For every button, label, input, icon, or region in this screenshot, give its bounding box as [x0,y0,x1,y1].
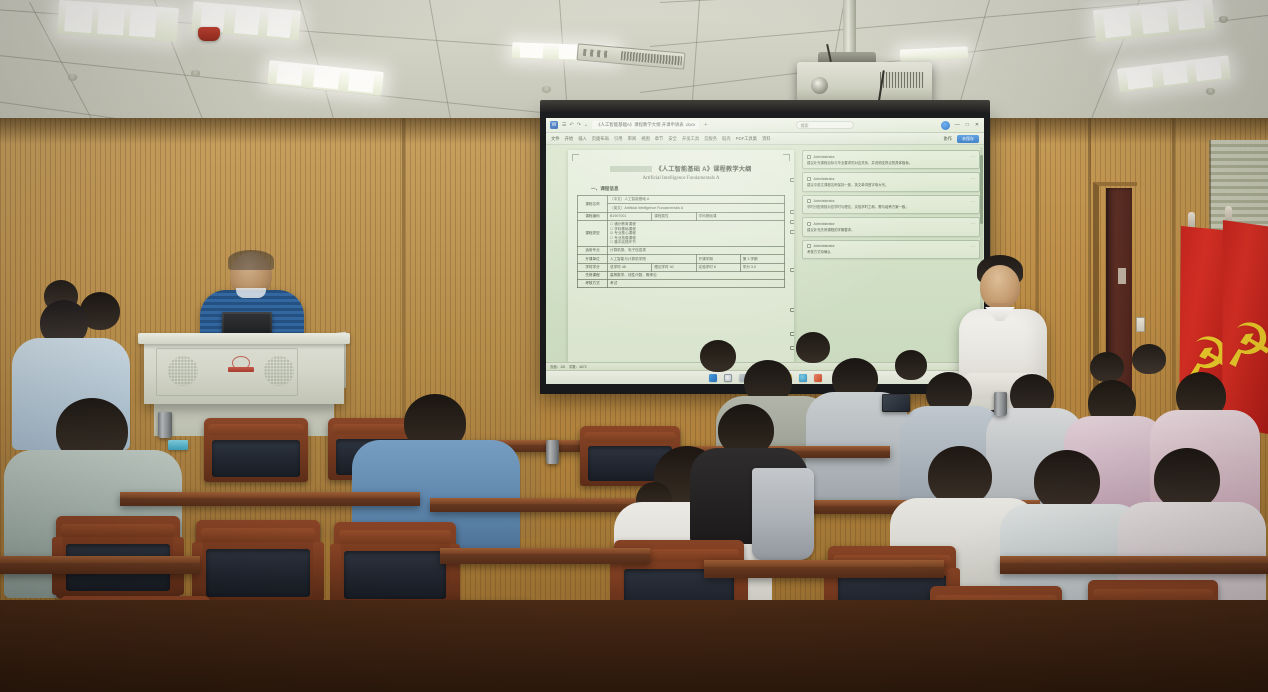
ribbon-tab-security[interactable]: 安全 [668,136,677,142]
audience-desk [440,548,650,564]
comment-author: Administrator [814,199,835,203]
cell-major: 计算机类、电子信息类 [608,247,785,255]
comment-menu-icon[interactable]: ⋯ [971,221,975,226]
comment-icon [807,155,811,159]
projection-screen: W ☰ ↶ ↷ ⌄ 《人工智能基础A》课程教学大纲 开课申请表 .docx + … [540,112,990,394]
comment-author: Administrator [814,222,835,226]
thermos-flask[interactable] [158,412,172,438]
avatar[interactable] [941,121,950,130]
row-label: 开课单位 [578,255,608,263]
comment-card[interactable]: Administrator ⋯ 建议补充课程目标与毕业要求的对应关系，并说明支撑… [802,150,980,169]
comment-menu-icon[interactable]: ⋯ [971,176,975,181]
hair [228,250,274,270]
wps-logo-icon: W [550,121,558,129]
cell-total-hours: 总学时 48 [608,263,652,271]
comment-menu-icon[interactable]: ⋯ [971,154,975,159]
word-count: 字数：4672 [569,364,587,369]
cell-course-name-en: （英文）Artificial Intelligence Fundamentals… [608,204,785,212]
laptop[interactable] [882,394,910,412]
sprinkler-head [68,74,77,81]
sprinkler-head [191,70,200,77]
comment-marker-icon[interactable] [790,332,794,336]
head [928,446,992,506]
cell-assessment: 考试 [608,280,785,288]
wps-document-area: 《人工智能基础 A》课程教学大纲 Artificial Intelligence… [546,145,984,362]
cell-course-type: ☐ 通识教育课程 ☐ 学科基础课程 ☑ 专业核心课程 ☐ 专业拓展课程 ☐ 集中… [608,220,785,246]
thermos-flask[interactable] [546,440,559,464]
comment-card[interactable]: Administrator ⋯ 考核方式待确认 [802,240,980,259]
page-indicator: 页面：1/8 [550,364,565,369]
cell-credits: 学分 3.0 [740,263,784,271]
projector-lens [811,77,828,94]
audience-chair[interactable] [196,520,320,604]
comment-text: 建议补充课程目标与毕业要求的对应关系，并说明支撑点的具体指标。 [807,161,975,166]
head [1154,448,1220,510]
table-row: 课程编码 B1907001 课程属性 学科基础课 [578,212,785,220]
table-row: 考核方式 考试 [578,280,785,288]
cell-theory-hours: 理论学时 40 [652,263,696,271]
ribbon-tab-view[interactable]: 视图 [641,136,650,142]
table-row: 先修课程 高等数学、线性代数、概率论 [578,271,785,279]
lecture-hall-photo: ☭ ☭ W ☰ ↶ ↷ ⌄ 《人工智 [0,0,1268,692]
podium-speaker-grille [168,356,198,386]
ribbon-tab-insert[interactable]: 插入 [578,136,587,142]
wps-office-window: W ☰ ↶ ↷ ⌄ 《人工智能基础A》课程教学大纲 开课申请表 .docx + … [546,118,984,384]
undo-icon[interactable]: ↶ [569,122,573,128]
redo-icon[interactable]: ↷ [577,122,581,128]
audience-chair[interactable] [334,522,456,606]
mobile-phone[interactable] [168,440,188,450]
row-label: 课程编码 [578,212,608,220]
new-tab-button[interactable]: + [703,122,708,128]
comment-text: 建议中英文课程名称保持一致，英文单词首字母大写。 [807,183,975,188]
document-page[interactable]: 《人工智能基础 A》课程教学大纲 Artificial Intelligence… [568,150,794,362]
light-switch[interactable] [1136,317,1145,332]
comment-icon [807,222,811,226]
ribbon-tab-developer[interactable]: 开发工具 [682,136,699,142]
floor [0,600,1268,692]
university-emblem [228,356,254,378]
table-row: 课程名称 （中文）人工智能基础 A [578,196,785,204]
table-row: （英文）Artificial Intelligence Fundamentals… [578,204,785,212]
ribbon-tab-resources[interactable]: 资料 [762,136,771,142]
cell-term-value: 第 3 学期 [740,255,784,263]
row-label: 先修课程 [578,271,608,279]
audience-desk [1000,556,1268,574]
comment-card[interactable]: Administrator ⋯ 建议中英文课程名称保持一致，英文单词首字母大写。 [802,172,980,191]
collaborate-label[interactable]: 协作 [943,136,952,142]
row-label: 考核方式 [578,280,608,288]
cell-course-code: B1907001 [608,212,652,220]
redacted-block [610,166,652,172]
comment-marker-icon[interactable] [790,210,794,214]
comment-marker-icon[interactable] [790,178,794,182]
ribbon-tab-home[interactable]: 开始 [565,136,574,142]
quick-access-toolbar[interactable]: ☰ ↶ ↷ ⌄ [562,122,588,128]
row-label: 适用专业 [578,247,608,255]
wps-title-bar: W ☰ ↶ ↷ ⌄ 《人工智能基础A》课程教学大纲 开课申请表 .docx + … [546,118,984,133]
ribbon-tab-section[interactable]: 章节 [655,136,664,142]
cell-prerequisites: 高等数学、线性代数、概率论 [608,271,785,279]
podium-speaker-grille [264,356,294,386]
row-label: 课程名称 [578,196,608,213]
table-row: 课程类型 ☐ 通识教育课程 ☐ 学科基础课程 ☑ 专业核心课程 ☐ 专业拓展课程… [578,220,785,246]
document-tab[interactable]: 《人工智能基础A》课程教学大纲 开课申请表 .docx [592,121,699,129]
cell-course-attr-label: 课程属性 [652,212,696,220]
comment-menu-icon[interactable]: ⋯ [971,244,975,249]
comment-text: 考核方式待确认 [807,250,975,255]
minimize-button[interactable]: — [954,122,961,128]
audience-desk [704,560,944,578]
comment-author: Administrator [814,155,835,159]
chevron-down-icon[interactable]: ⌄ [584,122,588,128]
comment-text: 学时分配请核对总学时与理论、实验学时之和，需与培养方案一致。 [807,205,975,210]
cell-lab-hours: 实验学时 8 [696,263,740,271]
document-title: 《人工智能基础 A》课程教学大纲 [577,164,785,173]
comment-icon [807,177,811,181]
row-label: 学时学分 [578,263,608,271]
ribbon-tab-references[interactable]: 引用 [614,136,623,142]
head [1034,450,1100,512]
jacket-on-chair [752,468,814,560]
close-button[interactable]: ✕ [974,122,980,128]
comment-marker-icon[interactable] [790,346,794,350]
cell-department: 人工智能与计算机学院 [608,255,697,263]
maximize-button[interactable]: □ [965,122,970,128]
ribbon-tab-review[interactable]: 审阅 [628,136,637,142]
course-info-table: 课程名称 （中文）人工智能基础 A （英文）Artificial Intelli… [577,195,785,288]
checkbox-option[interactable]: ☐ 集中实践环节 [610,240,782,244]
search-input[interactable]: 搜索 [796,121,854,129]
comment-menu-icon[interactable]: ⋯ [971,199,975,204]
comment-marker-icon[interactable] [790,230,794,234]
document-subtitle: Artificial Intelligence Fundamentals A [577,176,785,181]
comment-author: Administrator [814,177,835,181]
save-status-button[interactable]: 未保存 [957,135,979,143]
wps-ribbon-tabs: 文件 开始 插入 页面布局 引用 审阅 视图 章节 安全 开发工具 云服务 稻壳… [546,133,984,145]
projector-vent [880,72,924,88]
row-label: 课程类型 [578,220,608,246]
comment-text: 建议补充先修课程的学期要求。 [807,228,975,233]
cell-term-label: 开课学期 [696,255,740,263]
comment-marker-icon[interactable] [790,220,794,224]
ribbon-tab-plugin[interactable]: 稻壳 [722,136,731,142]
comment-author: Administrator [814,244,835,248]
comment-card[interactable]: Administrator ⋯ 建议补充先修课程的学期要求。 [802,217,980,236]
table-row: 适用专业 计算机类、电子信息类 [578,247,785,255]
fire-alarm-bell [198,27,220,41]
thermos-flask[interactable] [994,392,1007,416]
comment-icon [807,199,811,203]
audience-desk [120,492,420,506]
comment-card[interactable]: Administrator ⋯ 学时分配请核对总学时与理论、实验学时之和，需与培… [802,195,980,214]
door-sign [1118,268,1126,284]
comment-marker-icon[interactable] [790,308,794,312]
scrollbar-thumb[interactable] [980,155,983,224]
menu-icon[interactable]: ☰ [562,122,566,128]
document-section-heading: 一、课程信息 [591,186,785,192]
ribbon-tab-file[interactable]: 文件 [551,136,560,142]
table-row: 开课单位 人工智能与计算机学院 开课学期 第 3 学期 [578,255,785,263]
sprinkler-head [1206,88,1215,95]
comment-icon [807,244,811,248]
comments-pane: Administrator ⋯ 建议补充课程目标与毕业要求的对应关系，并说明支撑… [802,150,980,362]
cell-course-name-cn: （中文）人工智能基础 A [608,196,785,204]
lectern-podium [144,338,344,404]
ribbon-tab-layout[interactable]: 页面布局 [592,136,609,142]
collar [236,288,266,298]
audience-chair[interactable] [204,418,308,482]
sprinkler-head [1219,16,1228,23]
ribbon-tab-cloud[interactable]: 云服务 [704,136,717,142]
table-row: 学时学分 总学时 48 理论学时 40 实验学时 8 学分 3.0 [578,263,785,271]
ribbon-tab-pdf-tools[interactable]: PDF工具集 [736,136,757,142]
cell-course-attr-value: 学科基础课 [696,212,785,220]
sprinkler-head [542,86,551,93]
comment-marker-icon[interactable] [790,268,794,272]
audience-desk [0,556,200,574]
